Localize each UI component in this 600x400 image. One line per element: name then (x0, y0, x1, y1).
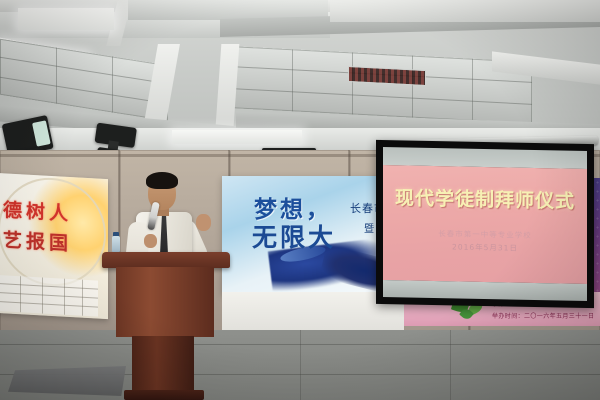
podium-base (124, 390, 204, 400)
pull-down-projection-screen[interactable]: 现代学徒制拜师仪式 长春市第一中等专业学校 2016年5月31日 (376, 142, 594, 308)
slide-title: 现代学徒制拜师仪式 (383, 183, 587, 214)
podium-body (116, 267, 214, 337)
pink-banner-line-2: 举办时间：二〇一六年五月三十一日 (492, 311, 594, 320)
presentation-room-scene: 承办单位：长春市第一中等专业学校 举办时间：二〇一六年五月三十一日 梦想， 无限… (0, 0, 600, 400)
presenter-right-hand (196, 214, 211, 231)
projected-slide: 现代学徒制拜师仪式 长春市第一中等专业学校 2016年5月31日 (383, 165, 587, 284)
presenter-hair (146, 172, 178, 189)
poster-line-1: 德树人 (3, 195, 72, 226)
slide-subtitle-date: 2016年5月31日 (383, 240, 587, 255)
screen-blank-bottom-band (383, 280, 587, 301)
podium-top-surface (102, 252, 230, 268)
poster-schedule-table (0, 275, 98, 317)
recessed-light-panel (18, 8, 114, 30)
banner-headline-line-2: 无限大 (252, 218, 336, 254)
left-wall-poster: 德树人 艺报国 (0, 173, 108, 319)
screen-black-border: 现代学徒制拜师仪式 长春市第一中等专业学校 2016年5月31日 (376, 140, 594, 308)
water-bottle (112, 236, 120, 252)
wooden-podium (102, 252, 230, 400)
presenter-left-hand (144, 234, 157, 248)
poster-line-2: 艺报国 (3, 225, 72, 256)
podium-column (132, 336, 194, 392)
banner-side-text-2: 暨 (364, 220, 374, 235)
